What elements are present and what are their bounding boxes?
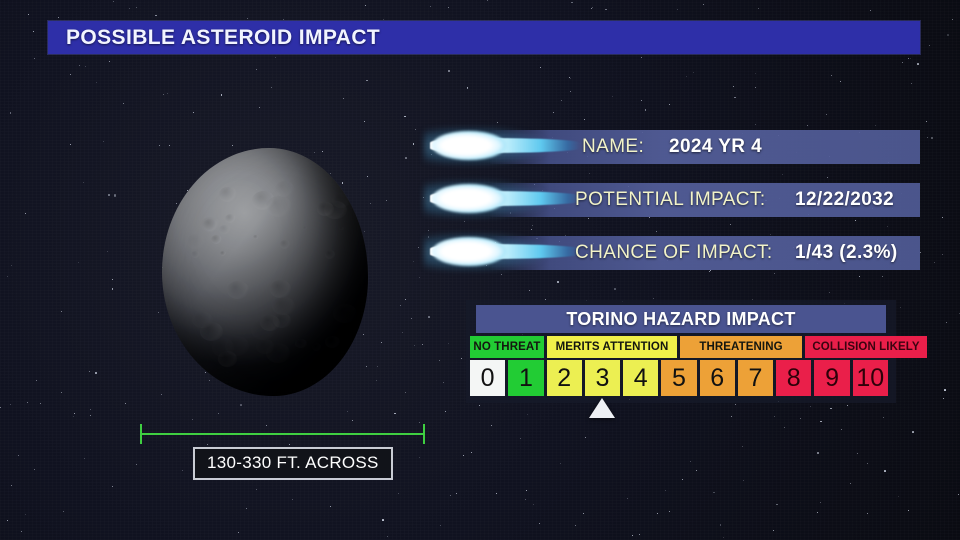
torino-hazard-panel: TORINO HAZARD IMPACT NO THREAT MERITS AT…	[466, 300, 896, 403]
info-label-name: NAME:	[582, 136, 644, 158]
measure-end-right	[423, 424, 425, 444]
torino-category-row: NO THREAT MERITS ATTENTION THREATENING C…	[470, 336, 888, 358]
measure-end-left	[140, 424, 142, 444]
info-label-potential-impact: POTENTIAL IMPACT:	[575, 189, 766, 211]
up-triangle-pointer-icon	[589, 398, 615, 418]
torino-level-7[interactable]: 7	[738, 360, 773, 396]
torino-level-3[interactable]: 3	[585, 360, 620, 396]
info-row-potential-impact: POTENTIAL IMPACT: 12/22/2032	[430, 183, 920, 217]
torino-category-threatening: THREATENING	[680, 336, 802, 358]
torino-title-bar: TORINO HAZARD IMPACT	[476, 305, 886, 333]
torino-level-0[interactable]: 0	[470, 360, 505, 396]
info-row-chance-of-impact: CHANCE OF IMPACT: 1/43 (2.3%)	[430, 236, 920, 270]
background-noise-overlay	[0, 0, 960, 540]
info-value-potential-impact: 12/22/2032	[795, 189, 894, 211]
header-bar: POSSIBLE ASTEROID IMPACT	[48, 21, 920, 54]
torino-level-5[interactable]: 5	[661, 360, 696, 396]
info-value-chance-of-impact: 1/43 (2.3%)	[795, 242, 898, 264]
torino-category-merits-attention: MERITS ATTENTION	[547, 336, 677, 358]
size-measure-line	[140, 433, 425, 435]
torino-category-no-threat: NO THREAT	[470, 336, 544, 358]
asteroid-illustration	[150, 140, 380, 415]
size-caption: 130-330 FT. ACROSS	[193, 447, 393, 480]
torino-level-8[interactable]: 8	[776, 360, 811, 396]
torino-level-10[interactable]: 10	[853, 360, 888, 396]
asteroid-shading	[162, 148, 368, 396]
torino-level-6[interactable]: 6	[700, 360, 735, 396]
torino-level-row: 0 1 2 3 4 5 6 7 8 9 10	[470, 360, 888, 396]
torino-level-2[interactable]: 2	[547, 360, 582, 396]
torino-level-9[interactable]: 9	[814, 360, 849, 396]
asteroid-body-icon	[162, 148, 368, 396]
torino-category-collision-likely: COLLISION LIKELY	[805, 336, 927, 358]
info-label-chance-of-impact: CHANCE OF IMPACT:	[575, 242, 773, 264]
torino-level-1[interactable]: 1	[508, 360, 543, 396]
info-value-name: 2024 YR 4	[669, 136, 762, 158]
page-title: POSSIBLE ASTEROID IMPACT	[66, 26, 380, 50]
torino-level-4[interactable]: 4	[623, 360, 658, 396]
info-row-name: NAME: 2024 YR 4	[430, 130, 920, 164]
broadcast-graphic: POSSIBLE ASTEROID IMPACT 130-330 FT. ACR…	[0, 0, 960, 540]
torino-title: TORINO HAZARD IMPACT	[566, 309, 795, 330]
